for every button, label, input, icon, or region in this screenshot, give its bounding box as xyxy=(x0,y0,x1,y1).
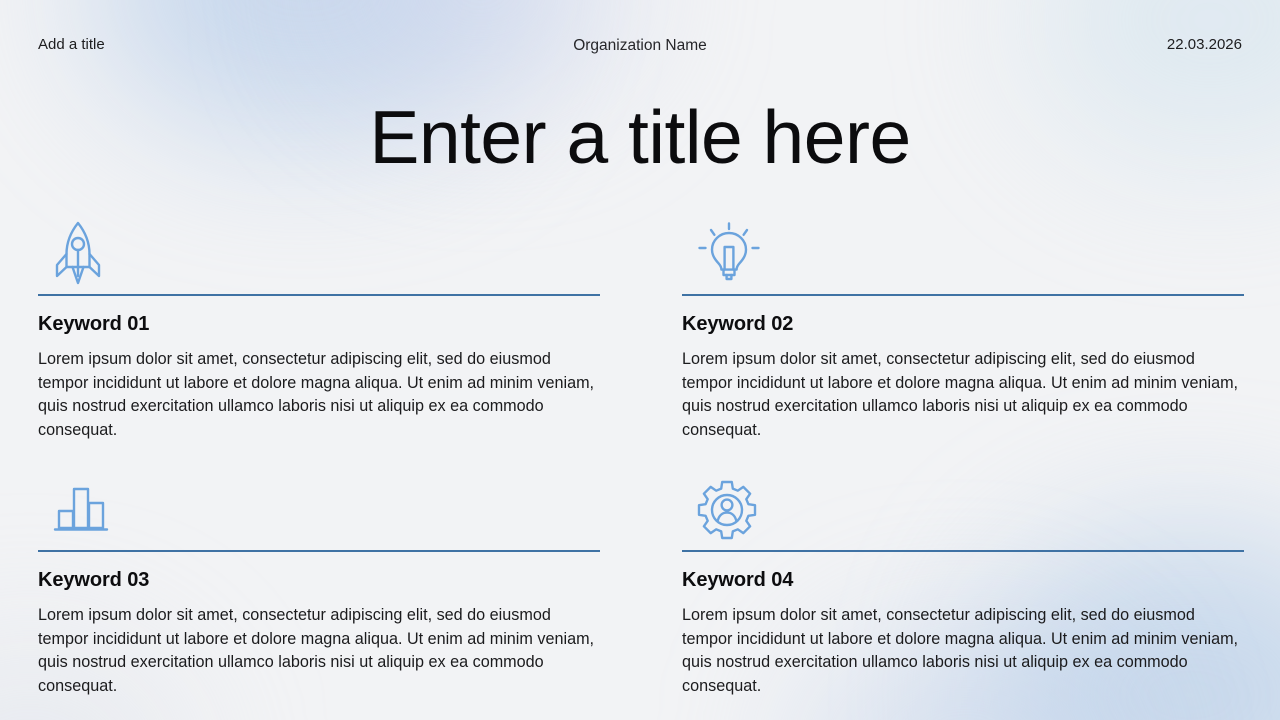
card-icon-container xyxy=(38,212,600,294)
keyword-card[interactable]: Keyword 04 Lorem ipsum dolor sit amet, c… xyxy=(682,468,1244,698)
bar-chart-icon xyxy=(52,481,110,537)
header-organization-name[interactable]: Organization Name xyxy=(0,37,1280,55)
card-title: Keyword 04 xyxy=(682,569,1244,592)
keyword-card[interactable]: Keyword 03 Lorem ipsum dolor sit amet, c… xyxy=(38,468,600,698)
slide-canvas: Add a title Organization Name 22.03.2026… xyxy=(0,0,1280,720)
card-title: Keyword 02 xyxy=(682,313,1244,336)
keyword-card-grid: Keyword 01 Lorem ipsum dolor sit amet, c… xyxy=(38,212,1242,698)
lightbulb-icon xyxy=(696,222,762,284)
card-body: Lorem ipsum dolor sit amet, consectetur … xyxy=(38,348,600,442)
rocket-icon xyxy=(52,220,104,286)
card-divider xyxy=(38,294,600,296)
user-settings-gear-icon xyxy=(696,478,758,540)
card-divider xyxy=(682,550,1244,552)
header-date[interactable]: 22.03.2026 xyxy=(1167,36,1242,53)
card-body: Lorem ipsum dolor sit amet, consectetur … xyxy=(682,348,1244,442)
card-title: Keyword 03 xyxy=(38,569,600,592)
card-icon-container xyxy=(682,212,1244,294)
keyword-card[interactable]: Keyword 02 Lorem ipsum dolor sit amet, c… xyxy=(682,212,1244,442)
card-icon-container xyxy=(38,468,600,550)
card-body: Lorem ipsum dolor sit amet, consectetur … xyxy=(682,604,1244,698)
card-body: Lorem ipsum dolor sit amet, consectetur … xyxy=(38,604,600,698)
card-divider xyxy=(682,294,1244,296)
slide-header: Add a title Organization Name 22.03.2026 xyxy=(0,36,1280,68)
keyword-card[interactable]: Keyword 01 Lorem ipsum dolor sit amet, c… xyxy=(38,212,600,442)
slide-main-title[interactable]: Enter a title here xyxy=(0,98,1280,177)
card-icon-container xyxy=(682,468,1244,550)
card-divider xyxy=(38,550,600,552)
card-title: Keyword 01 xyxy=(38,313,600,336)
